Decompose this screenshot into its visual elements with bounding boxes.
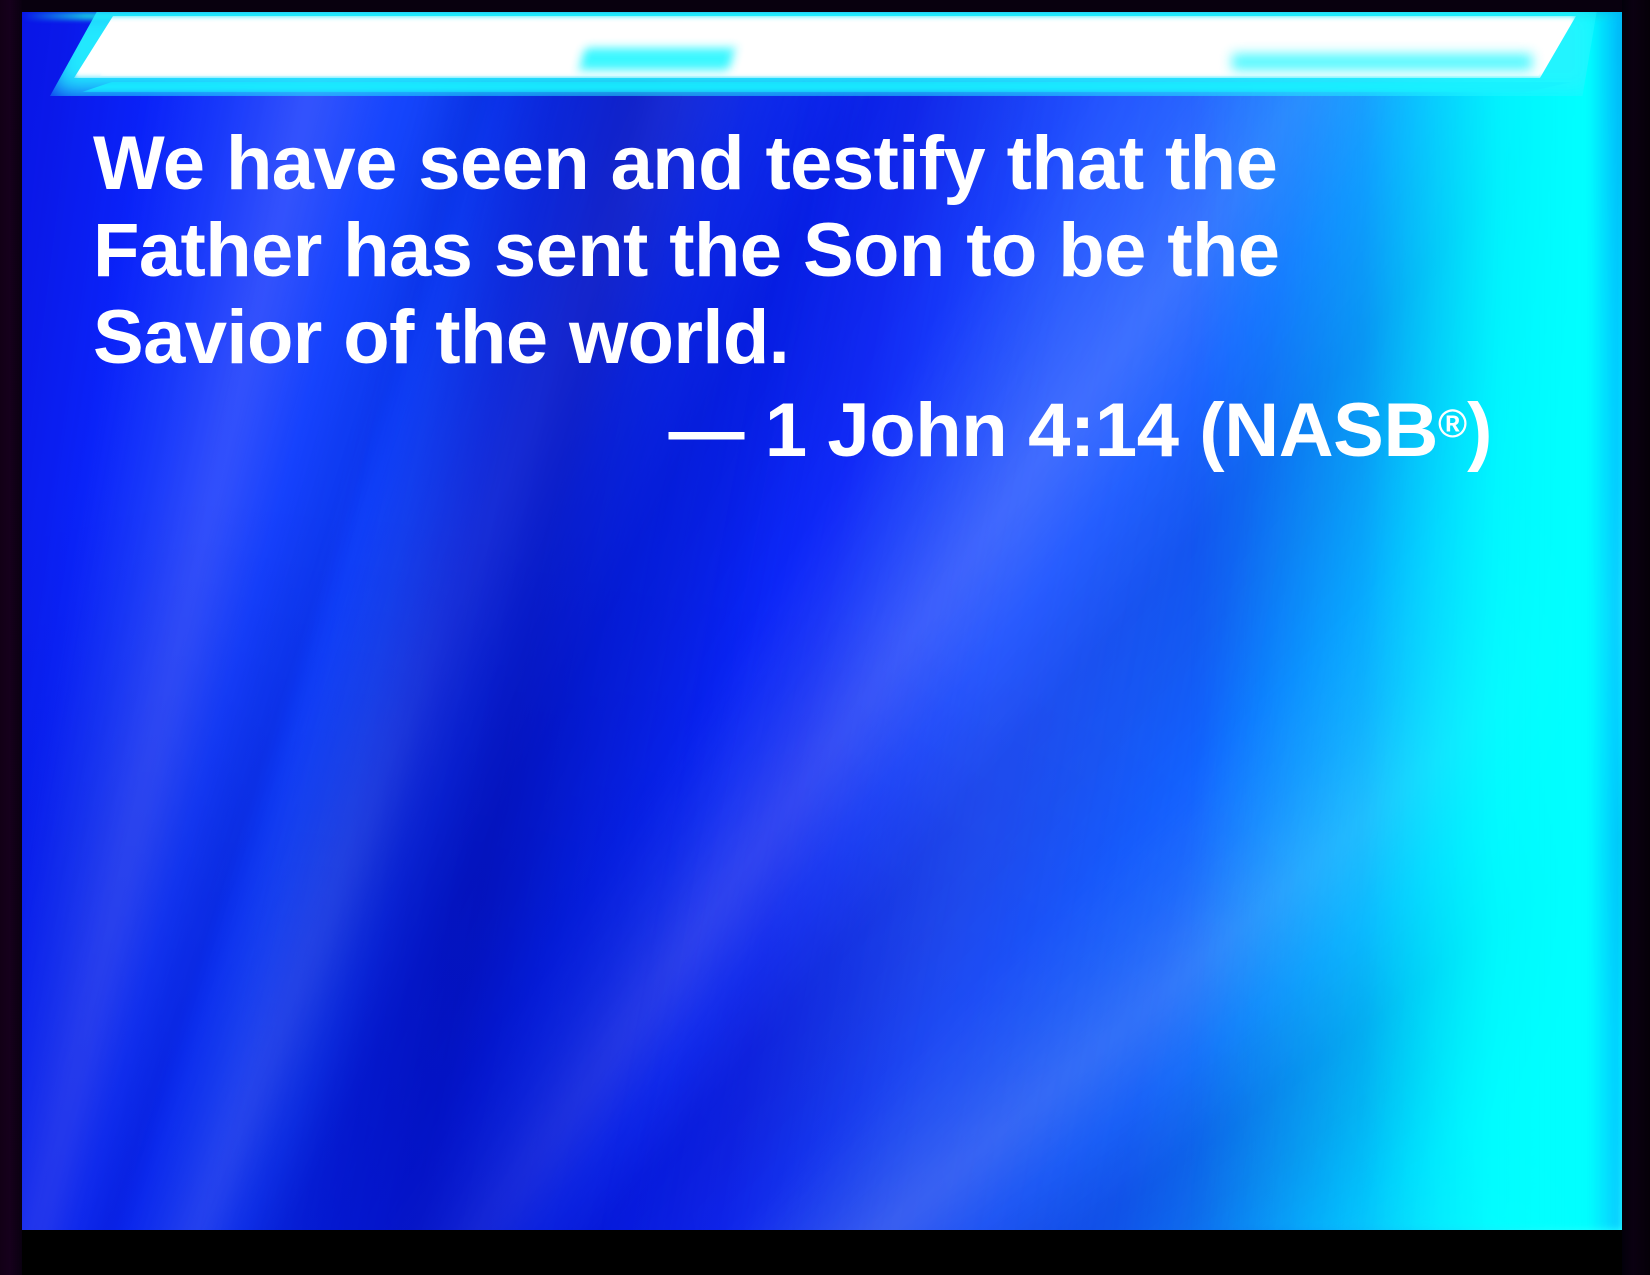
verse-text: We have seen and testify that the Father… (93, 120, 1513, 381)
reference-book: 1 John (765, 388, 1008, 473)
reference-translation-open: (NASB (1199, 388, 1438, 473)
slide-text-layer: We have seen and testify that the Father… (22, 12, 1622, 1230)
verse-reference: — 1 John 4:14 (NASB®) (93, 381, 1492, 474)
reference-chapter-verse: 4:14 (1028, 388, 1179, 473)
frame-border-bottom (0, 1230, 1650, 1275)
reference-dash: — (668, 388, 744, 473)
frame-border-left (0, 0, 22, 1275)
scripture-slide: We have seen and testify that the Father… (0, 0, 1650, 1275)
frame-border-right (1622, 0, 1650, 1275)
frame-border-top (0, 0, 1650, 12)
reference-translation-close: ) (1467, 388, 1492, 473)
registered-trademark-icon: ® (1438, 402, 1467, 446)
